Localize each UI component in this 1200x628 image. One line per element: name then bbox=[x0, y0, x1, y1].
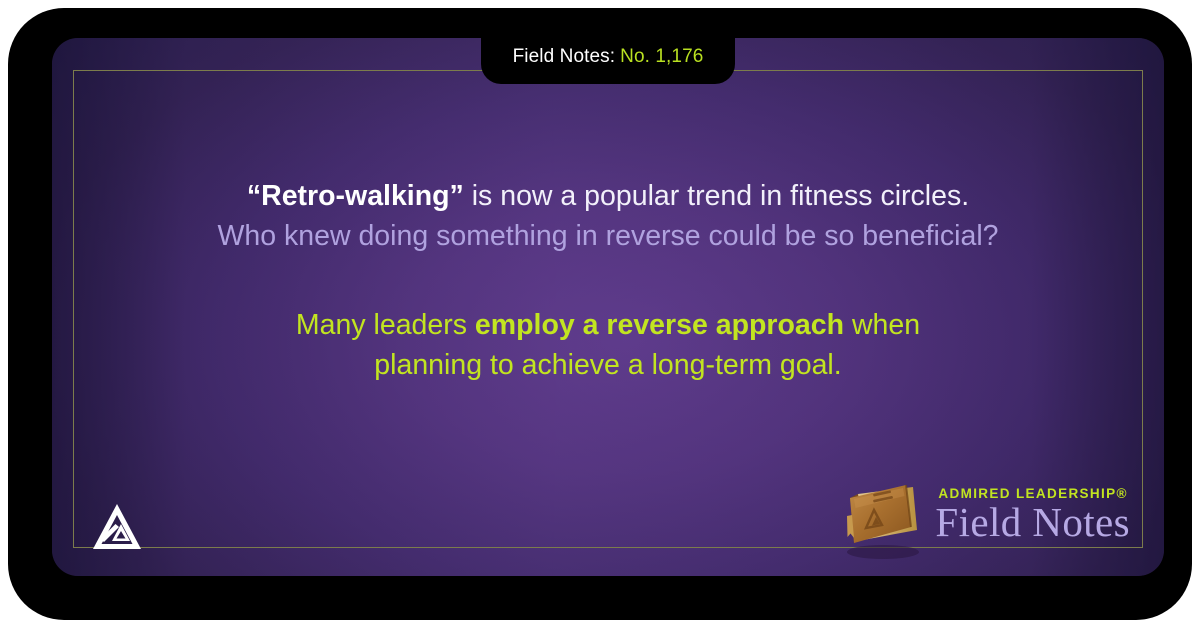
note-body: “Retro-walking” is now a popular trend i… bbox=[8, 176, 1200, 386]
intro-emphasis: “Retro-walking” bbox=[247, 180, 464, 212]
lesson-line-2: planning to achieve a long-term goal. bbox=[8, 345, 1200, 385]
lesson-line-1-prefix: Many leaders bbox=[296, 309, 475, 341]
admired-leadership-monogram-icon bbox=[91, 502, 143, 552]
title-tab-label: Field Notes: bbox=[513, 46, 616, 68]
lesson-paragraph: Many leaders employ a reverse approach w… bbox=[8, 305, 1200, 386]
brand-lockup: ADMIRED LEADERSHIP® Field Notes bbox=[827, 470, 1130, 562]
title-tab: Field Notes: No. 1,176 bbox=[481, 16, 735, 84]
brand-text-block: ADMIRED LEADERSHIP® Field Notes bbox=[935, 486, 1130, 547]
lesson-line-1-suffix: when bbox=[844, 309, 920, 341]
lesson-emphasis: employ a reverse approach bbox=[475, 309, 844, 341]
lesson-line-1: Many leaders employ a reverse approach w… bbox=[8, 305, 1200, 345]
intro-line-2: Who knew doing something in reverse coul… bbox=[8, 216, 1200, 256]
intro-line-1-rest: is now a popular trend in fitness circle… bbox=[464, 180, 969, 212]
intro-line-1: “Retro-walking” is now a popular trend i… bbox=[8, 176, 1200, 216]
brand-wordmark: Field Notes bbox=[935, 502, 1130, 543]
outer-frame: Field Notes: No. 1,176 “Retro-walking” i… bbox=[8, 8, 1192, 620]
title-tab-number: No. 1,176 bbox=[620, 46, 703, 68]
intro-paragraph: “Retro-walking” is now a popular trend i… bbox=[8, 176, 1200, 257]
field-notes-notebook-icon bbox=[827, 470, 931, 562]
